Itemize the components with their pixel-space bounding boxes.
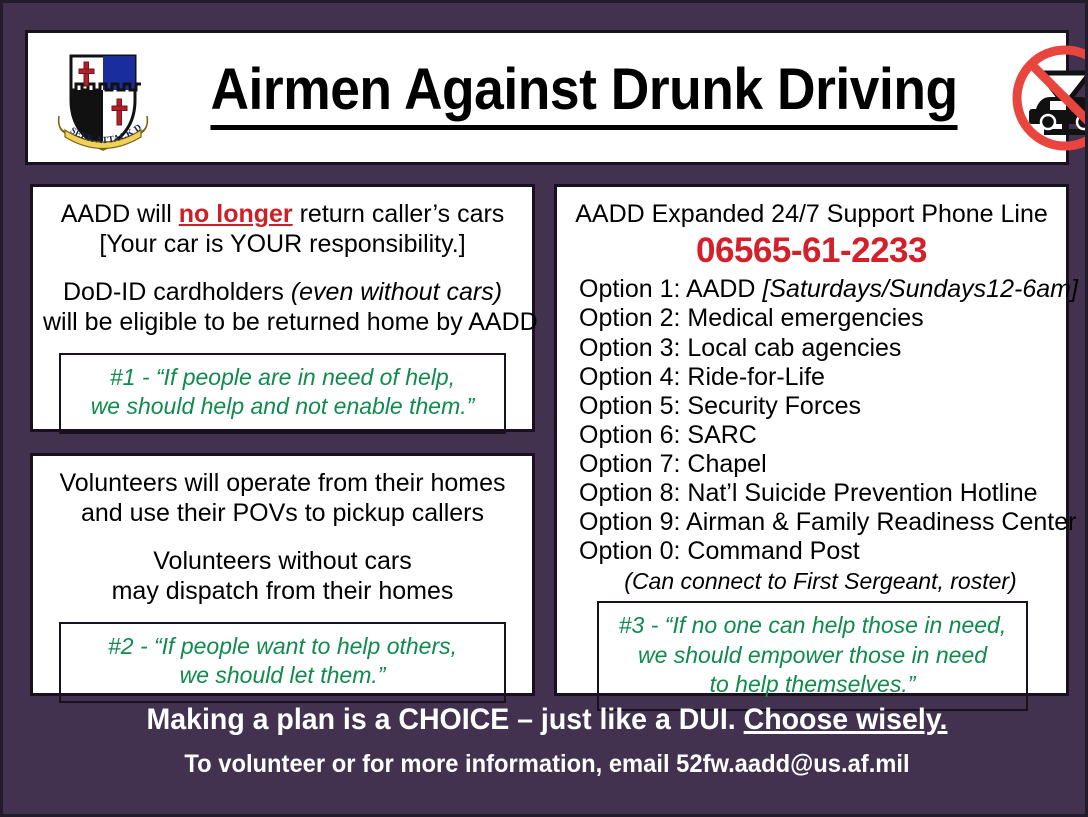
- policy-line-1-suffix: return caller’s cars: [293, 200, 505, 228]
- phone-option-8[interactable]: Option 8: Nat’l Suicide Prevention Hotli…: [579, 479, 1056, 508]
- phone-line-heading: AADD Expanded 24/7 Support Phone Line: [567, 199, 1056, 229]
- phone-option-5[interactable]: Option 5: Security Forces: [579, 392, 1056, 421]
- policy-line-3-prefix: DoD-ID cardholders: [63, 278, 291, 306]
- quote-3-line-1: #3 - “If no one can help those in need,: [605, 611, 1020, 640]
- policy-line-3-italic: (even without cars): [291, 278, 502, 306]
- volunteers-line-2: and use their POVs to pickup callers: [43, 498, 522, 528]
- phone-option-9[interactable]: Option 9: Airman & Family Readiness Cent…: [579, 508, 1056, 537]
- quote-3-line-2: we should empower those in need: [605, 641, 1020, 670]
- policy-panel: AADD will no longer return caller’s cars…: [30, 184, 535, 432]
- volunteers-line-4: may dispatch from their homes: [43, 576, 522, 606]
- phone-option-6[interactable]: Option 6: SARC: [579, 421, 1056, 450]
- command-post-note: (Can connect to First Sergeant, roster): [567, 568, 1056, 596]
- policy-emphasis-no-longer: no longer: [179, 200, 293, 228]
- no-drink-drive-svg: [1010, 43, 1088, 153]
- crest-svg: SEEK ATTACK DESTROY: [51, 42, 155, 154]
- page-title: Airmen Against Drunk Driving: [210, 61, 957, 130]
- quote-1-line-2: we should help and not enable them.”: [67, 392, 498, 421]
- quote-2-line-1: #2 - “If people want to help others,: [67, 632, 498, 661]
- title-container: Airmen Against Drunk Driving: [178, 61, 990, 134]
- footer: Making a plan is a CHOICE – just like a …: [3, 703, 1088, 779]
- air-force-wing-shield-icon: SEEK ATTACK DESTROY: [28, 42, 178, 154]
- footer-tagline-text: Making a plan is a CHOICE – just like a …: [147, 703, 744, 736]
- quote-box-1: #1 - “If people are in need of help, we …: [59, 353, 506, 434]
- policy-line-3: DoD-ID cardholders (even without cars): [43, 277, 522, 307]
- phone-option-7[interactable]: Option 7: Chapel: [579, 450, 1056, 479]
- phone-line-body: AADD Expanded 24/7 Support Phone Line 06…: [557, 187, 1066, 711]
- phone-option-1[interactable]: Option 1: AADD [Saturdays/Sundays12-6am]: [579, 275, 1056, 304]
- phone-option-0[interactable]: Option 0: Command Post: [579, 537, 1056, 566]
- policy-line-4: will be eligible to be returned home by …: [43, 307, 522, 337]
- phone-option-3[interactable]: Option 3: Local cab agencies: [579, 334, 1056, 363]
- policy-line-1: AADD will no longer return caller’s cars: [43, 199, 522, 229]
- phone-line-panel: AADD Expanded 24/7 Support Phone Line 06…: [554, 184, 1069, 696]
- policy-panel-body: AADD will no longer return caller’s cars…: [33, 187, 532, 434]
- volunteers-panel: Volunteers will operate from their homes…: [30, 453, 535, 696]
- phone-option-4[interactable]: Option 4: Ride-for-Life: [579, 363, 1056, 392]
- phone-option-1-hours: [Saturdays/Sundays12-6am]: [762, 275, 1077, 303]
- phone-number[interactable]: 06565-61-2233: [567, 231, 1056, 271]
- footer-contact: To volunteer or for more information, em…: [30, 750, 1064, 779]
- volunteers-line-1: Volunteers will operate from their homes: [43, 468, 522, 498]
- quote-2-line-2: we should let them.”: [67, 661, 498, 690]
- aadd-poster: SEEK ATTACK DESTROY Airmen Against Drunk…: [0, 0, 1088, 817]
- policy-line-1-prefix: AADD will: [61, 200, 179, 228]
- quote-box-3: #3 - “If no one can help those in need, …: [597, 601, 1028, 711]
- phone-options-list: Option 1: AADD [Saturdays/Sundays12-6am]…: [567, 275, 1056, 566]
- footer-tagline: Making a plan is a CHOICE – just like a …: [30, 703, 1064, 737]
- volunteers-panel-body: Volunteers will operate from their homes…: [33, 456, 532, 703]
- quote-1-line-1: #1 - “If people are in need of help,: [67, 363, 498, 392]
- phone-option-2[interactable]: Option 2: Medical emergencies: [579, 304, 1056, 333]
- volunteers-line-3: Volunteers without cars: [43, 546, 522, 576]
- footer-tagline-underlined: Choose wisely.: [744, 703, 948, 736]
- no-drinking-and-driving-icon: [990, 43, 1088, 153]
- header-banner: SEEK ATTACK DESTROY Airmen Against Drunk…: [25, 30, 1069, 165]
- phone-option-1-label: Option 1: AADD: [579, 275, 762, 303]
- policy-line-2: [Your car is YOUR responsibility.]: [43, 229, 522, 259]
- quote-3-line-3: to help themselves.”: [605, 670, 1020, 699]
- quote-box-2: #2 - “If people want to help others, we …: [59, 622, 506, 703]
